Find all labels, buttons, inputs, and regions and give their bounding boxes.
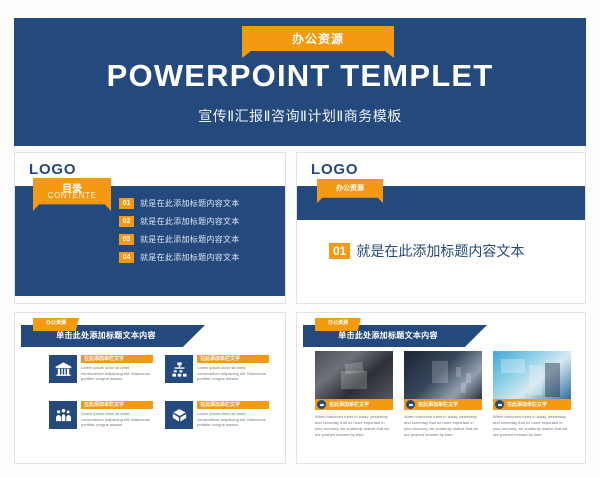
- feature-title-bar: 在此添加单栏文字: [81, 355, 153, 363]
- ppt-template-preview-page: 办公资源 POWERPOINT TEMPLET 宣传Ⅱ汇报Ⅱ咨询Ⅱ计划Ⅱ商务模板…: [0, 0, 600, 477]
- section-number-badge: 01: [329, 243, 350, 259]
- section-tab-label: 办公资源: [317, 183, 383, 193]
- feature-title: 在此添加单栏文字: [81, 401, 153, 409]
- image-card[interactable]: 在此添加单栏文字 When tomorrow turns in today, y…: [315, 351, 393, 438]
- feature-item[interactable]: 在此添加单栏文字 Lorem ipsum dolor sit amet, con…: [49, 355, 153, 385]
- contents-item-number: 02: [119, 216, 134, 227]
- card-body-text: When tomorrow turns in today, yesterday,…: [315, 414, 393, 438]
- feature-title-bar: 在此添加单栏文字: [197, 401, 269, 409]
- feature-body-text: Lorem ipsum dolor sit amet, consectetuer…: [81, 365, 153, 382]
- hero-ribbon-label: 办公资源: [242, 30, 394, 47]
- cards-header-title: 单击此处添加标题文本内容: [303, 330, 473, 341]
- hero-subtitle: 宣传Ⅱ汇报Ⅱ咨询Ⅱ计划Ⅱ商务模板: [14, 106, 586, 126]
- features-header-ribbon: 办公资源 单击此处添加标题文本内容: [21, 325, 205, 347]
- contents-item-label: 就是在此添加标题内容文本: [140, 216, 240, 227]
- card-caption-text: 在此添加单栏文字: [418, 401, 458, 408]
- org-chart-icon: [165, 355, 193, 383]
- feature-title: 在此添加单栏文字: [197, 401, 269, 409]
- two-colleagues-with-tablet-photo: [493, 351, 571, 399]
- contents-item-number: 04: [119, 252, 134, 263]
- feature-title: 在此添加单栏文字: [81, 355, 153, 363]
- card-body-text: When tomorrow turns in today, yesterday,…: [404, 414, 482, 438]
- feature-title-bar: 在此添加单栏文字: [197, 355, 269, 363]
- contents-item-number: 03: [119, 234, 134, 245]
- feature-title: 在此添加单栏文字: [197, 355, 269, 363]
- title-slide[interactable]: 办公资源 POWERPOINT TEMPLET 宣传Ⅱ汇报Ⅱ咨询Ⅱ计划Ⅱ商务模板: [14, 18, 586, 146]
- section-title: 就是在此添加标题内容文本: [356, 241, 524, 261]
- list-item[interactable]: 02 就是在此添加标题内容文本: [119, 216, 240, 227]
- card-caption-text: 在此添加单栏文字: [329, 401, 369, 408]
- gear-icon: [406, 400, 415, 409]
- hands-holding-house-model-photo: [315, 351, 393, 399]
- card-body-text: When tomorrow turns in today, yesterday,…: [493, 414, 571, 438]
- feature-item[interactable]: 在此添加单栏文字 Lorem ipsum dolor sit amet, con…: [165, 401, 269, 431]
- bank-building-icon: [49, 355, 77, 383]
- features-header-tab-label: 办公资源: [33, 319, 79, 326]
- card-caption-bar: 在此添加单栏文字: [404, 399, 482, 410]
- gear-icon: [495, 400, 504, 409]
- contents-item-label: 就是在此添加标题内容文本: [140, 198, 240, 209]
- contents-list: 01 就是在此添加标题内容文本 02 就是在此添加标题内容文本 03 就是在此添…: [119, 198, 240, 270]
- contents-tab: 目录 CONTENTE: [33, 178, 111, 211]
- contents-tab-en-label: CONTENTE: [33, 191, 111, 200]
- feature-item[interactable]: 在此添加单栏文字 Lorem ipsum dolor sit amet, con…: [49, 401, 153, 431]
- feature-body-text: Lorem ipsum dolor sit amet, consectetuer…: [197, 365, 269, 382]
- section-heading: 01 就是在此添加标题内容文本: [329, 241, 524, 261]
- image-cards-slide[interactable]: 办公资源 单击此处添加标题文本内容 在此添加单栏文字 When tomorrow…: [296, 312, 586, 464]
- card-caption-text: 在此添加单栏文字: [507, 401, 547, 408]
- contents-slide[interactable]: LOGO 目录 CONTENTE 01 就是在此添加标题内容文本 02 就是在此…: [14, 152, 286, 304]
- cards-header-tab-label: 办公资源: [315, 319, 361, 326]
- feature-body-text: Lorem ipsum dolor sit amet, consectetuer…: [197, 411, 269, 428]
- hero-ribbon-banner: 办公资源: [242, 26, 394, 64]
- card-caption-bar: 在此添加单栏文字: [315, 399, 393, 410]
- features-header-title: 单击此处添加标题文本内容: [21, 330, 191, 341]
- books-stack-icon: [165, 401, 193, 429]
- section-tab: 办公资源: [317, 179, 383, 203]
- feature-item[interactable]: 在此添加单栏文字 Lorem ipsum dolor sit amet, con…: [165, 355, 269, 385]
- features-slide[interactable]: 办公资源 单击此处添加标题文本内容 在此添加单栏文字 Lorem ipsum d…: [14, 312, 286, 464]
- businessman-using-tablet-photo: [404, 351, 482, 399]
- logo-text: LOGO: [311, 161, 358, 178]
- list-item[interactable]: 03 就是在此添加标题内容文本: [119, 234, 240, 245]
- logo-text: LOGO: [29, 161, 76, 178]
- list-item[interactable]: 04 就是在此添加标题内容文本: [119, 252, 240, 263]
- list-item[interactable]: 01 就是在此添加标题内容文本: [119, 198, 240, 209]
- image-card[interactable]: 在此添加单栏文字 When tomorrow turns in today, y…: [493, 351, 571, 438]
- contents-item-number: 01: [119, 198, 134, 209]
- contents-item-label: 就是在此添加标题内容文本: [140, 252, 240, 263]
- section-divider-slide[interactable]: LOGO 办公资源 01 就是在此添加标题内容文本: [296, 152, 586, 304]
- gear-icon: [317, 400, 326, 409]
- contents-item-label: 就是在此添加标题内容文本: [140, 234, 240, 245]
- people-group-icon: [49, 401, 77, 429]
- feature-title-bar: 在此添加单栏文字: [81, 401, 153, 409]
- cards-header-ribbon: 办公资源 单击此处添加标题文本内容: [303, 325, 487, 347]
- card-caption-bar: 在此添加单栏文字: [493, 399, 571, 410]
- feature-body-text: Lorem ipsum dolor sit amet, consectetuer…: [81, 411, 153, 428]
- image-card[interactable]: 在此添加单栏文字 When tomorrow turns in today, y…: [404, 351, 482, 438]
